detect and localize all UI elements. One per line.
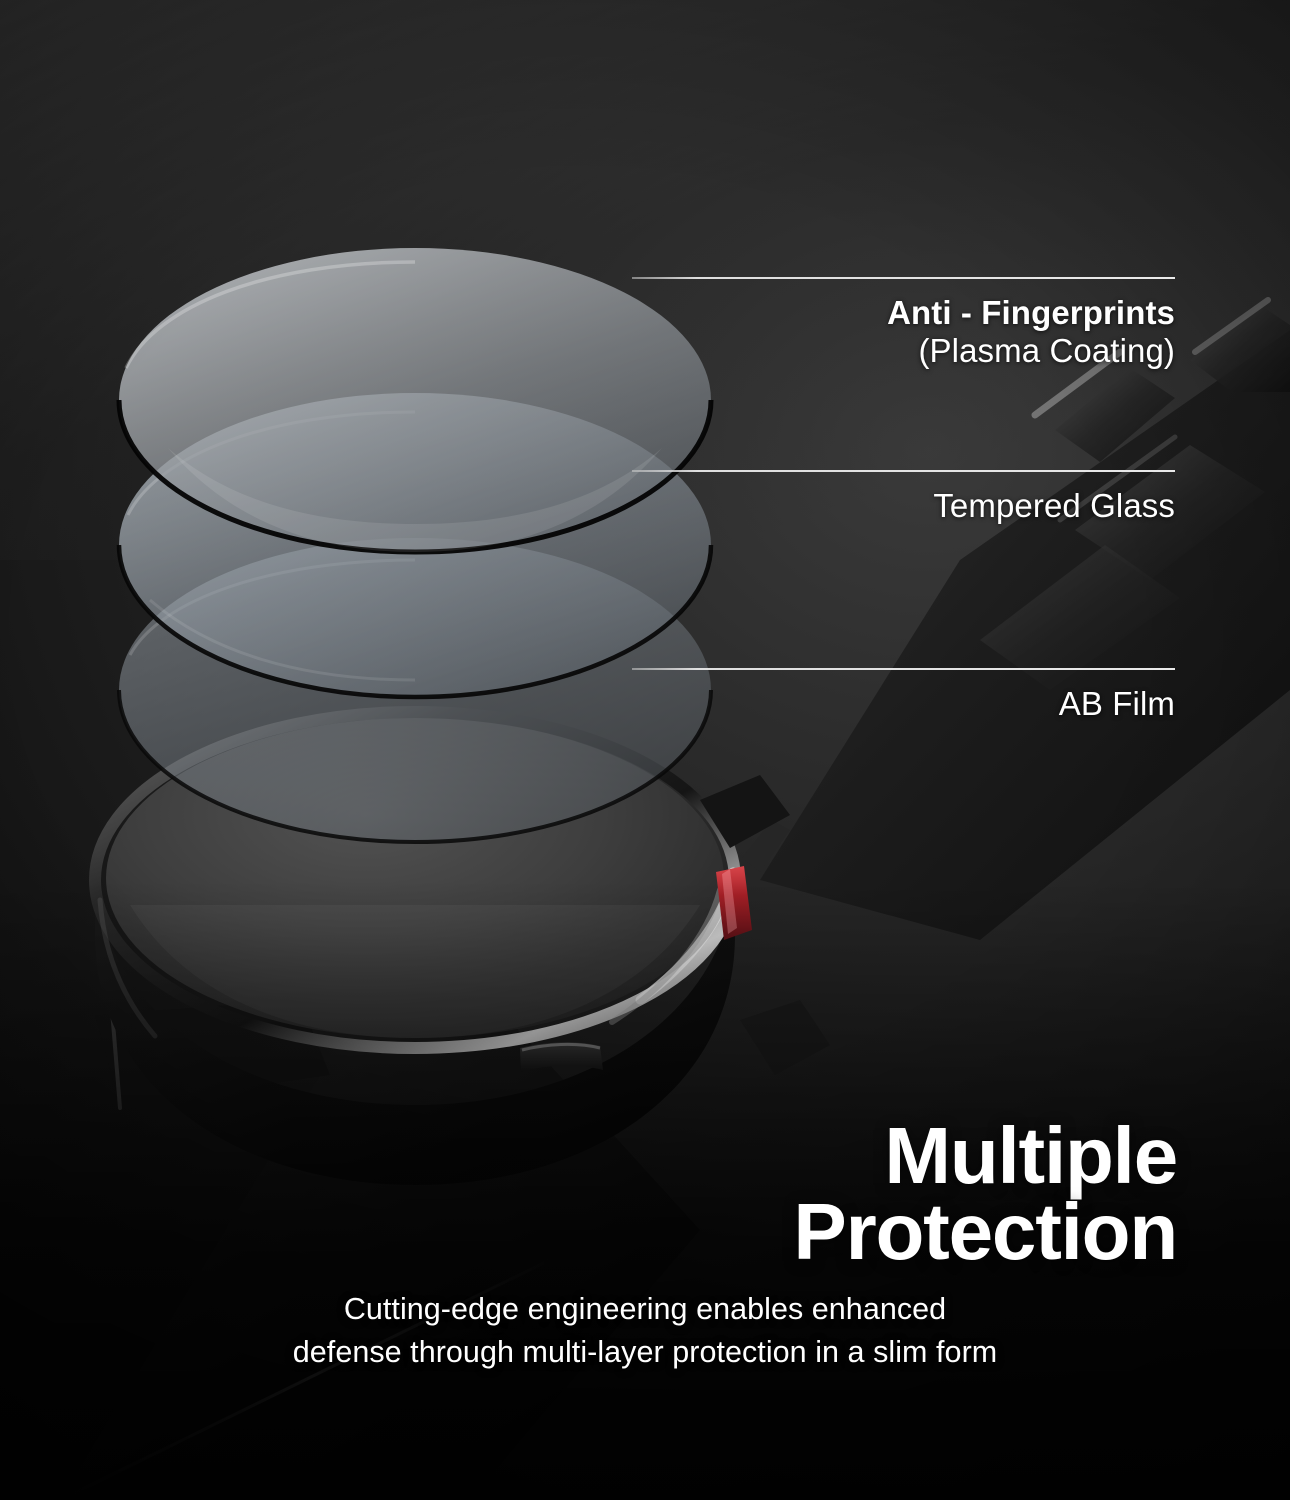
callout-title-tempered-glass: Tempered Glass <box>400 487 1175 525</box>
subtitle-line-2: defense through multi-layer protection i… <box>0 1331 1290 1374</box>
product-feature-image: Anti - Fingerprints (Plasma Coating) Tem… <box>0 0 1290 1500</box>
headline-line-2: Protection <box>793 1194 1177 1270</box>
callout-text-tempered-glass: Tempered Glass <box>400 487 1175 525</box>
callout-line-ab-film <box>632 668 1175 670</box>
headline-line-1: Multiple <box>793 1118 1177 1194</box>
subtitle-line-1: Cutting-edge engineering enables enhance… <box>0 1288 1290 1331</box>
callout-text-ab-film: AB Film <box>400 685 1175 723</box>
callout-title-anti-fingerprints: Anti - Fingerprints <box>400 294 1175 332</box>
callout-line-anti-fingerprints <box>632 277 1175 279</box>
callout-text-anti-fingerprints: Anti - Fingerprints (Plasma Coating) <box>400 294 1175 369</box>
headline: Multiple Protection <box>793 1118 1177 1270</box>
callout-subtitle-anti-fingerprints: (Plasma Coating) <box>400 332 1175 370</box>
subtitle: Cutting-edge engineering enables enhance… <box>0 1288 1290 1375</box>
callout-line-tempered-glass <box>632 470 1175 472</box>
callout-title-ab-film: AB Film <box>400 685 1175 723</box>
